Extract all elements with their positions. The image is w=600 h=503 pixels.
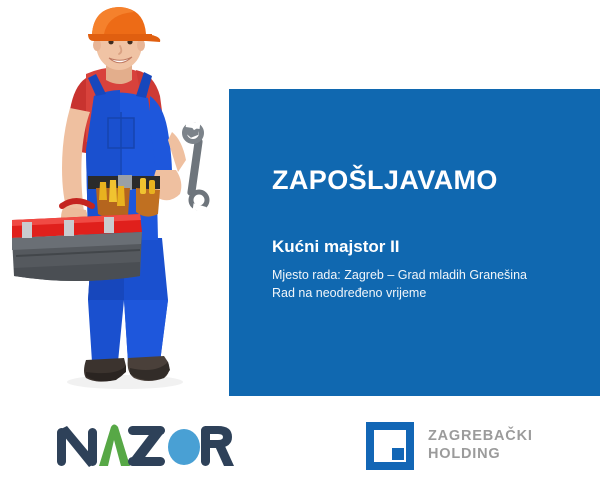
job-details: Mjesto rada: Zagreb – Grad mladih Graneš… <box>272 266 527 302</box>
job-ad-poster: ZAPOŠLJAVAMO Kućni majstor II Mjesto rad… <box>0 0 600 503</box>
nazor-letter-z <box>128 426 165 466</box>
blue-info-panel: ZAPOŠLJAVAMO Kućni majstor II Mjesto rad… <box>229 89 600 396</box>
zagrebacki-holding-logo: ZAGREBAČKI HOLDING <box>366 422 566 470</box>
nazor-letter-n <box>57 426 97 467</box>
zagrebacki-holding-line1: ZAGREBAČKI <box>428 428 533 446</box>
worker-photo <box>0 0 240 400</box>
job-location-line: Mjesto rada: Zagreb – Grad mladih Graneš… <box>272 266 527 284</box>
zagrebacki-holding-wordmark: ZAGREBAČKI HOLDING <box>428 428 533 463</box>
nazor-letter-r <box>201 426 234 466</box>
headline-zaposljavamo: ZAPOŠLJAVAMO <box>272 167 498 194</box>
zagrebacki-holding-mark-core <box>392 448 404 460</box>
nazor-logo-mark <box>55 422 235 470</box>
nazor-letter-o <box>168 429 200 465</box>
zagrebacki-holding-line2: HOLDING <box>428 446 533 464</box>
job-contract-line: Rad na neodređeno vrijeme <box>272 284 527 302</box>
zagrebacki-holding-square-mark <box>366 422 414 470</box>
zagrebacki-holding-mark-inner <box>374 430 406 462</box>
job-title: Kućni majstor II <box>272 237 400 257</box>
worker-illustration <box>0 0 240 400</box>
nazor-logo <box>55 422 235 470</box>
footer-logos: ZAGREBAČKI HOLDING <box>0 396 600 503</box>
nazor-letter-a <box>99 425 130 467</box>
